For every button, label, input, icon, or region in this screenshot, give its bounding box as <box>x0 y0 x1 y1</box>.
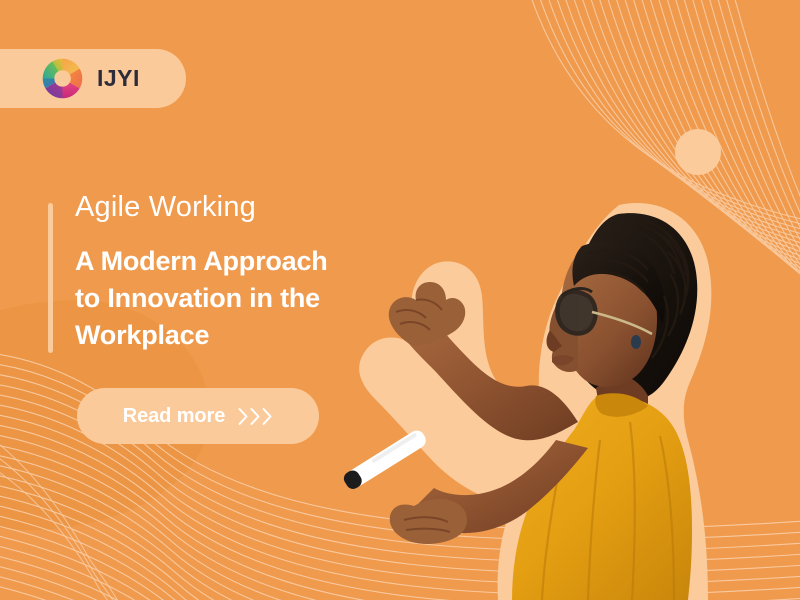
headline-line-3: Workplace <box>75 320 209 350</box>
headline-line-2: to Innovation in the <box>75 283 320 313</box>
brand-logo-pill[interactable]: IJYI <box>0 49 186 108</box>
read-more-button[interactable]: Read more <box>77 388 319 444</box>
headline-line-1: A Modern Approach <box>75 246 328 276</box>
eyeglasses-icon <box>557 292 595 334</box>
vertical-accent-bar <box>48 203 53 353</box>
earring <box>631 335 641 349</box>
whiteboard-marker-icon <box>341 428 429 492</box>
promo-banner: IJYI Agile Working A Modern Approach to … <box>0 0 800 600</box>
brand-name: IJYI <box>97 67 140 90</box>
hand-grip <box>390 499 467 544</box>
woman-with-marker-photo <box>330 200 730 600</box>
chevron-right-icon <box>238 407 273 426</box>
ijyi-swirl-logo-icon <box>40 56 85 101</box>
read-more-label: Read more <box>123 405 225 428</box>
circle-accent-decoration <box>675 129 721 175</box>
